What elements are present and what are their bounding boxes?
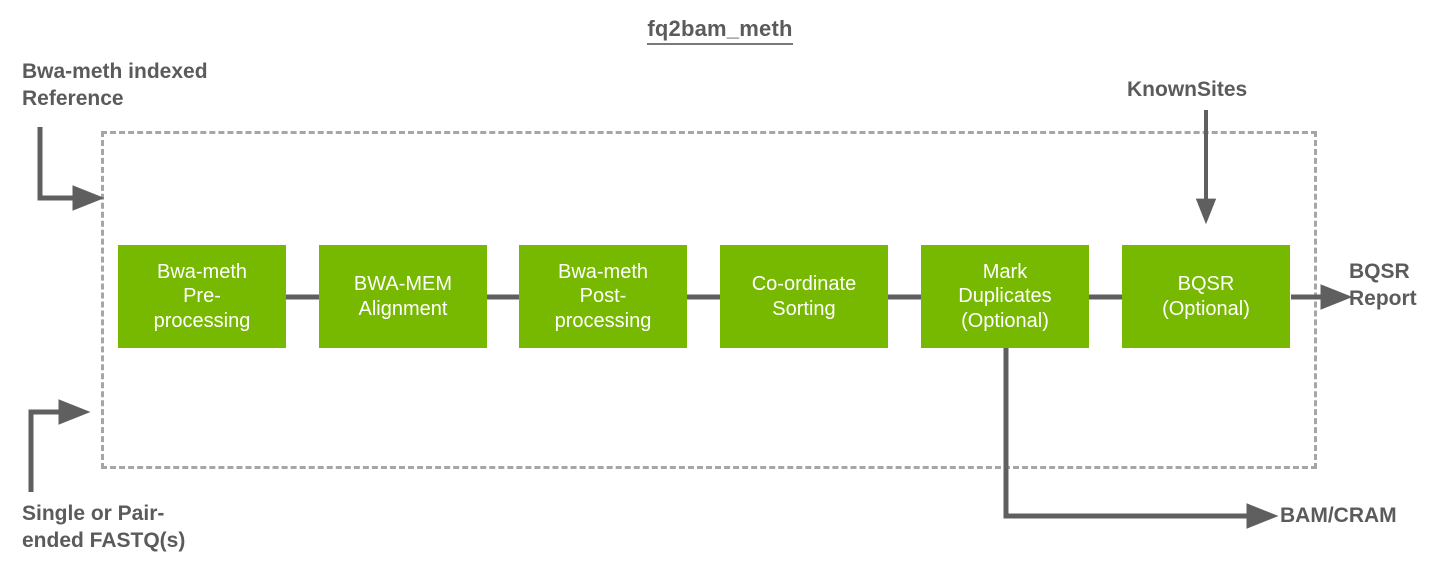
input-label-reference: Bwa-meth indexed Reference (22, 58, 322, 113)
wire-reference-to-pipeline (40, 127, 88, 198)
stage-bqsr[interactable]: BQSR (Optional) (1122, 245, 1290, 348)
stage-mark-duplicates[interactable]: Mark Duplicates (Optional) (921, 245, 1089, 348)
stage-bwa-meth-postprocessing[interactable]: Bwa-meth Post- processing (519, 245, 687, 348)
wire-fastq-to-pipeline (31, 412, 74, 492)
page-title: fq2bam_meth (0, 16, 1440, 42)
input-label-fastq: Single or Pair- ended FASTQ(s) (22, 500, 322, 555)
output-label-bqsr-report: BQSR Report (1349, 258, 1440, 313)
stage-bwa-meth-preprocessing[interactable]: Bwa-meth Pre- processing (118, 245, 286, 348)
stage-bwa-mem-alignment[interactable]: BWA-MEM Alignment (319, 245, 487, 348)
page-title-text: fq2bam_meth (647, 16, 792, 45)
stage-coordinate-sorting[interactable]: Co-ordinate Sorting (720, 245, 888, 348)
input-label-knownsites: KnownSites (1127, 76, 1387, 103)
diagram-canvas: fq2bam_meth (0, 0, 1440, 578)
output-label-bam-cram: BAM/CRAM (1280, 502, 1440, 529)
